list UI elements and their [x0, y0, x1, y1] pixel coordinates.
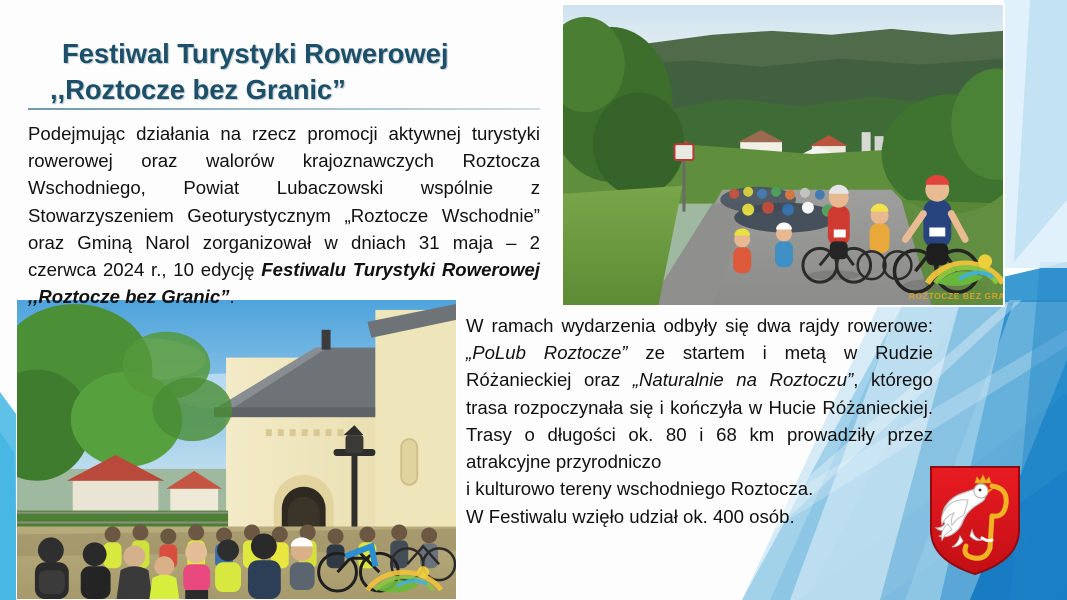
details-run-1: W ramach wydarzenia odbyły się dwa rajdy…	[466, 315, 933, 336]
photo-church-gathering	[16, 299, 457, 600]
title-divider	[28, 108, 540, 110]
title-line-1: Festiwal Turystyki Rowerowej	[62, 36, 532, 72]
intro-run-3: .	[229, 286, 234, 307]
title-line-2: ,,Roztocze bez Granic”	[50, 72, 532, 108]
photo-peloton-on-road: ROZTOCZE BEZ GRANIC	[562, 4, 1004, 306]
details-line-participants: W Festiwalu wzięło udział ok. 400 osób.	[466, 503, 933, 530]
page-title: Festiwal Turystyki Rowerowej ,,Roztocze …	[62, 36, 532, 109]
svg-text:ROZTOCZE BEZ GRANIC: ROZTOCZE BEZ GRANIC	[909, 291, 1003, 301]
rally-name-naturalnie-na-roztoczu: „Naturalnie na Roztoczu”	[633, 369, 853, 390]
rally-name-polub-roztocze: „PoLub Roztocze”	[466, 342, 628, 363]
details-line-culture: i kulturowo tereny wschodniego Roztocza.	[466, 475, 933, 502]
details-paragraph: W ramach wydarzenia odbyły się dwa rajdy…	[466, 312, 933, 530]
presentation-slide: Festiwal Turystyki Rowerowej ,,Roztocze …	[0, 0, 1067, 600]
intro-run-1: Podejmując działania na rzecz promocji a…	[28, 123, 540, 280]
coat-of-arms	[928, 464, 1022, 577]
intro-paragraph: Podejmując działania na rzecz promocji a…	[28, 120, 540, 311]
